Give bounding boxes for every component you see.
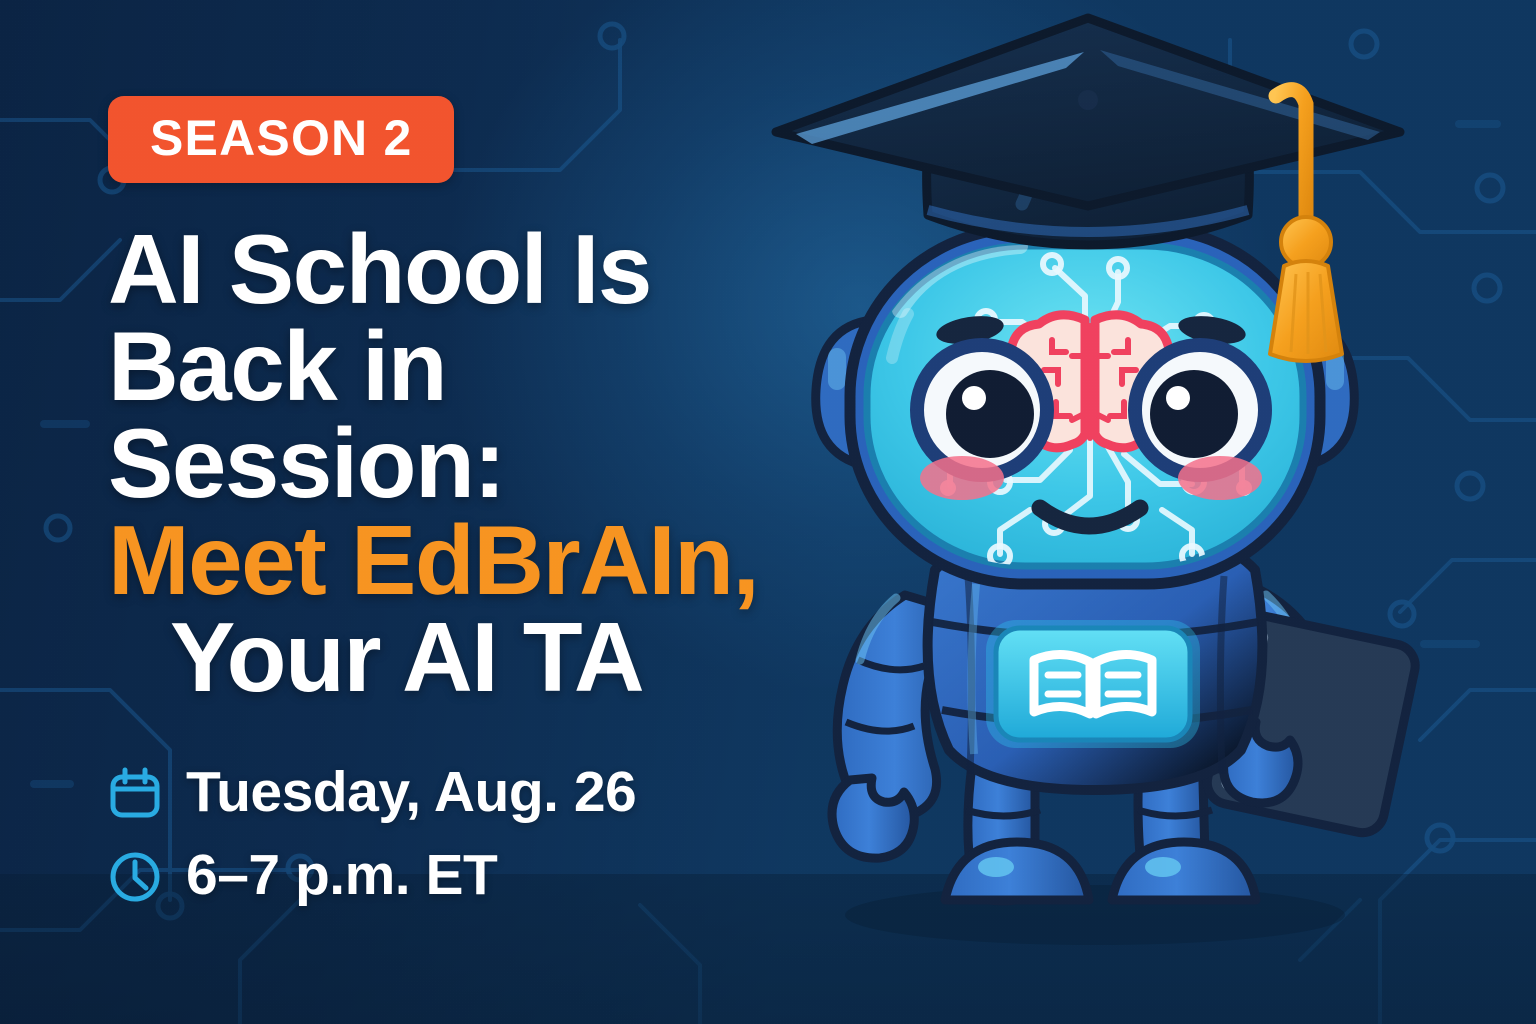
headline-line-1: AI School Is	[108, 221, 808, 318]
edbrain-mascot	[700, 10, 1480, 970]
headline-line-2: Back in Session:	[108, 318, 808, 512]
calendar-icon	[108, 766, 162, 820]
chest-screen	[986, 620, 1200, 748]
page-title: AI School Is Back in Session: Meet EdBrA…	[108, 221, 808, 706]
season-badge: SEASON 2	[108, 96, 454, 183]
headline-line-4: Your AI TA	[108, 609, 808, 706]
right-blush	[1178, 456, 1262, 500]
left-blush	[920, 456, 1004, 500]
headline-line-3-accent: Meet EdBrAIn,	[108, 512, 808, 609]
mascot-ground-shadow	[845, 885, 1345, 945]
clock-icon	[108, 849, 162, 903]
event-date: Tuesday, Aug. 26	[186, 764, 636, 821]
promo-banner: SEASON 2 AI School Is Back in Session: M…	[0, 0, 1536, 1024]
event-date-row: Tuesday, Aug. 26	[108, 764, 808, 821]
promo-copy-column: SEASON 2 AI School Is Back in Session: M…	[108, 96, 808, 930]
event-time: 6–7 p.m. ET	[186, 847, 497, 904]
event-time-row: 6–7 p.m. ET	[108, 847, 808, 904]
event-details: Tuesday, Aug. 26 6–7 p.m. ET	[108, 764, 808, 904]
mascot-head	[850, 228, 1320, 584]
